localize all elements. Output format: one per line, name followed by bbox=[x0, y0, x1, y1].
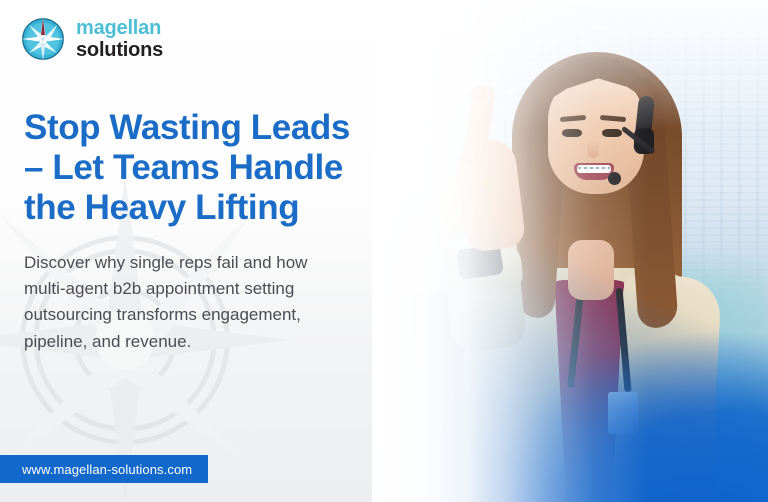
blog-banner: magellan solutions Stop Wasting Leads – … bbox=[0, 0, 768, 502]
brand-logo[interactable]: magellan solutions bbox=[20, 16, 163, 62]
copy-block: Stop Wasting Leads – Let Teams Handle th… bbox=[24, 108, 454, 355]
logo-name-solutions: solutions bbox=[76, 40, 163, 60]
website-url-text: www.magellan-solutions.com bbox=[22, 462, 192, 477]
logo-wordmark: magellan solutions bbox=[76, 18, 163, 60]
compass-rose-icon bbox=[20, 16, 66, 62]
logo-name-magellan: magellan bbox=[76, 18, 163, 38]
page-title: Stop Wasting Leads – Let Teams Handle th… bbox=[24, 108, 454, 228]
website-url-bar[interactable]: www.magellan-solutions.com bbox=[0, 455, 208, 483]
page-subtitle: Discover why single reps fail and how mu… bbox=[24, 250, 416, 355]
